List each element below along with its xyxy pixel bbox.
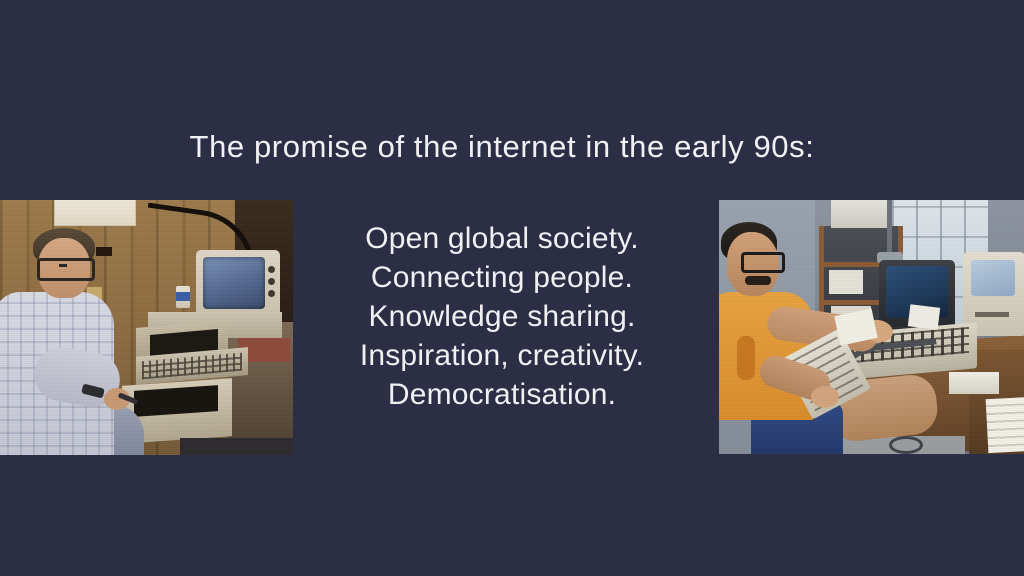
loose-paper xyxy=(908,304,940,329)
floor xyxy=(180,438,293,455)
presentation-slide: The promise of the internet in the early… xyxy=(0,0,1024,576)
eyeglasses-icon xyxy=(37,258,95,281)
monitor-knob xyxy=(268,278,275,285)
shelf-papers xyxy=(829,270,863,294)
macintosh-screen xyxy=(971,260,1015,296)
promise-item: Knowledge sharing. xyxy=(292,297,712,336)
eyeglasses-icon xyxy=(741,252,785,273)
photo-left-vintage-computer-user xyxy=(0,200,293,455)
promise-item: Democratisation. xyxy=(292,375,712,414)
wall-sign xyxy=(54,200,136,226)
crt-monitor-screen xyxy=(203,257,265,309)
photo-right-vintage-computer-user xyxy=(719,200,1024,454)
eyeglasses-on-floor-icon xyxy=(889,436,923,454)
promise-item: Open global society. xyxy=(292,219,712,258)
floppy-drive-slot xyxy=(975,312,1009,317)
shirt-graphic xyxy=(737,336,755,380)
right-photo-scene xyxy=(719,200,1024,454)
mustache xyxy=(745,276,771,285)
typing-man-lower-hand xyxy=(811,386,839,408)
lamp-arm xyxy=(887,200,892,256)
page-title: The promise of the internet in the early… xyxy=(0,129,1004,165)
overhead-box xyxy=(831,200,887,228)
desk-cup-band xyxy=(176,292,190,301)
monitor-knob xyxy=(268,266,275,273)
promise-list: Open global society. Connecting people. … xyxy=(292,219,712,414)
promise-item: Connecting people. xyxy=(292,258,712,297)
desk-box xyxy=(949,372,999,394)
promise-item: Inspiration, creativity. xyxy=(292,336,712,375)
wall-vent xyxy=(96,247,112,256)
eyeglasses-bridge xyxy=(59,264,67,267)
monitor-knob xyxy=(268,290,275,297)
left-photo-scene xyxy=(0,200,293,455)
paper-stack xyxy=(986,397,1024,453)
